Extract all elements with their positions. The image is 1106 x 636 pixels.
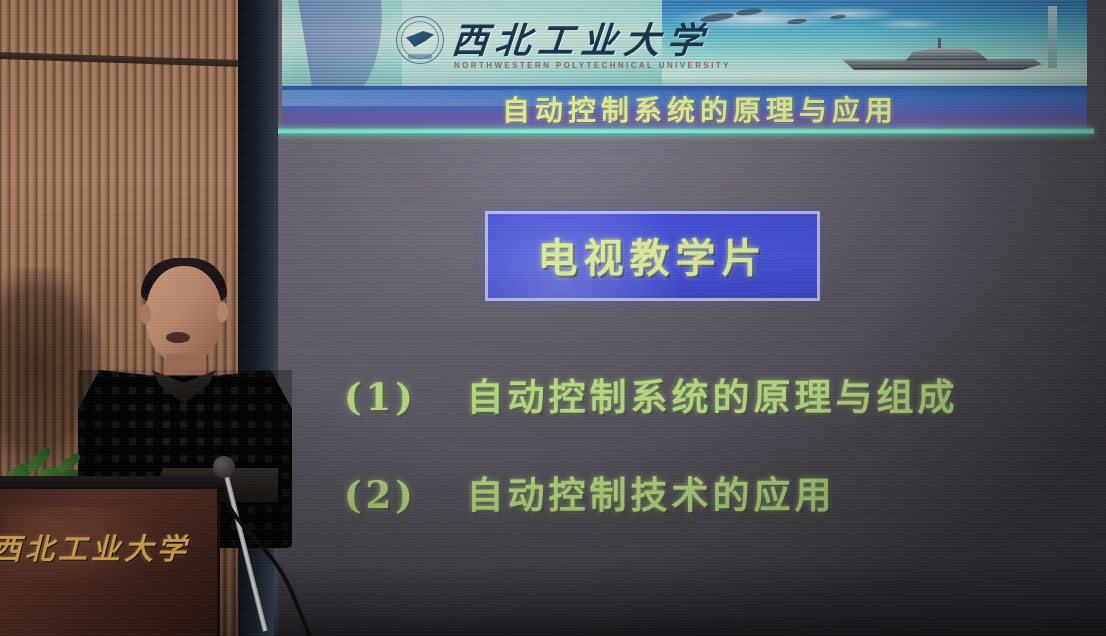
speaker-head (146, 266, 222, 362)
podium-university-name: 西北工业大学 (0, 526, 200, 568)
slide-body: 电视教学片 (1) 自动控制系统的原理与组成 (2) 自动控制技术的应用 (274, 135, 1106, 636)
university-crest-icon (396, 16, 444, 64)
title-underline-rule (274, 128, 1094, 135)
naval-ship-icon (842, 44, 1057, 72)
slide-title: 自动控制系统的原理与应用 (420, 89, 980, 129)
outline-item-1-marker: (1) (344, 375, 417, 419)
podium: 西北工业大学 (0, 476, 228, 636)
wall-rail (0, 52, 238, 67)
microphone-head (213, 456, 235, 478)
speaker-ear-right (217, 302, 228, 322)
ship-superstructure (900, 45, 992, 61)
university-name-cn: 西北工业大学 (450, 12, 713, 64)
outline-item-1: (1) 自动控制系统的原理与组成 (344, 367, 959, 421)
slide-banner: 西北工业大学 NORTHWESTERN POLYTECHNICAL UNIVER… (282, 0, 1087, 86)
lecture-scene: 西北工业大学 NORTHWESTERN POLYTECHNICAL UNIVER… (0, 0, 1106, 636)
crest-year-band (408, 54, 432, 59)
slide-title-bar: 自动控制系统的原理与应用 (282, 86, 1087, 129)
speaker-mouth (166, 332, 190, 343)
crest-wing-shape (406, 31, 434, 47)
ship-mast (938, 38, 941, 48)
outline-item-2: (2) 自动控制技术的应用 (344, 465, 836, 519)
outline-item-1-text: 自动控制系统的原理与组成 (467, 375, 959, 419)
university-name-en: NORTHWESTERN POLYTECHNICAL UNIVERSITY (454, 61, 731, 70)
outline-item-2-marker: (2) (344, 473, 417, 517)
projection-screen: 西北工业大学 NORTHWESTERN POLYTECHNICAL UNIVER… (274, 0, 1106, 636)
microphone-cable (214, 486, 334, 636)
banner-swoosh-shape (296, 0, 397, 86)
highlight-box-text: 电视教学片 (488, 226, 817, 284)
outline-item-2-text: 自动控制技术的应用 (467, 473, 836, 517)
speaker-ear-left (140, 304, 151, 324)
highlight-box: 电视教学片 (485, 211, 820, 301)
